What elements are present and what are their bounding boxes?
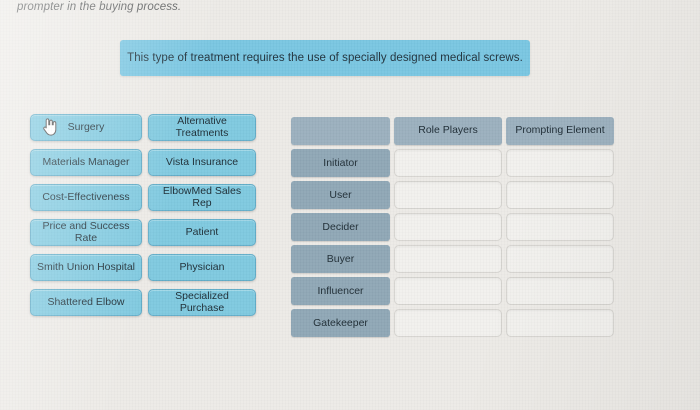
tile-label: Patient bbox=[186, 227, 219, 239]
drop-cell-user-role-player[interactable] bbox=[394, 181, 502, 209]
tile-smith-union-hospital[interactable]: Smith Union Hospital bbox=[30, 254, 142, 281]
drop-cell-decider-prompting-element[interactable] bbox=[506, 213, 614, 241]
tile-alternative-treatments[interactable]: Alternative Treatments bbox=[148, 114, 256, 141]
prompt-banner: This type of treatment requires the use … bbox=[120, 40, 530, 76]
drop-cell-initiator-prompting-element[interactable] bbox=[506, 149, 614, 177]
tile-shattered-elbow[interactable]: Shattered Elbow bbox=[30, 289, 142, 316]
matrix-row-label-initiator: Initiator bbox=[291, 149, 390, 177]
tile-label: Materials Manager bbox=[43, 157, 130, 169]
tile-label: Price and Success Rate bbox=[34, 221, 138, 244]
drop-cell-buyer-role-player[interactable] bbox=[394, 245, 502, 273]
prompt-banner-text: This type of treatment requires the use … bbox=[127, 52, 523, 64]
matrix-row-label-user: User bbox=[291, 181, 390, 209]
tile-elbowmed-sales-rep[interactable]: ElbowMed Sales Rep bbox=[148, 184, 256, 211]
tile-patient[interactable]: Patient bbox=[148, 219, 256, 246]
tile-label: Alternative Treatments bbox=[152, 116, 252, 139]
tile-specialized-purchase[interactable]: Specialized Purchase bbox=[148, 289, 256, 316]
matrix-row-label-influencer: Influencer bbox=[291, 277, 390, 305]
hand-pointer-icon bbox=[42, 117, 57, 136]
role-matrix-table: Role Players Prompting Element Initiator… bbox=[291, 117, 614, 337]
matrix-row-label-decider: Decider bbox=[291, 213, 390, 241]
tile-label: Smith Union Hospital bbox=[37, 262, 135, 274]
drop-cell-gatekeeper-prompting-element[interactable] bbox=[506, 309, 614, 337]
tile-label: Vista Insurance bbox=[166, 157, 238, 169]
draggable-tiles-column-left: Surgery Materials Manager Cost-Effective… bbox=[30, 114, 142, 316]
tile-price-and-success-rate[interactable]: Price and Success Rate bbox=[30, 219, 142, 246]
tile-cost-effectiveness[interactable]: Cost-Effectiveness bbox=[30, 184, 142, 211]
tile-surgery[interactable]: Surgery bbox=[30, 114, 142, 141]
matrix-header-role-players: Role Players bbox=[394, 117, 502, 145]
drop-cell-user-prompting-element[interactable] bbox=[506, 181, 614, 209]
tile-label: Shattered Elbow bbox=[47, 297, 124, 309]
matrix-row-label-buyer: Buyer bbox=[291, 245, 390, 273]
tile-label: Specialized Purchase bbox=[152, 291, 252, 314]
drop-cell-influencer-prompting-element[interactable] bbox=[506, 277, 614, 305]
truncated-instruction-text: prompter in the buying process. bbox=[17, 1, 181, 13]
tile-label: ElbowMed Sales Rep bbox=[152, 186, 252, 209]
matrix-header-blank bbox=[291, 117, 390, 145]
drop-cell-gatekeeper-role-player[interactable] bbox=[394, 309, 502, 337]
tile-materials-manager[interactable]: Materials Manager bbox=[30, 149, 142, 176]
drop-cell-initiator-role-player[interactable] bbox=[394, 149, 502, 177]
tile-label: Physician bbox=[180, 262, 225, 274]
tile-physician[interactable]: Physician bbox=[148, 254, 256, 281]
matrix-row-label-gatekeeper: Gatekeeper bbox=[291, 309, 390, 337]
drop-cell-decider-role-player[interactable] bbox=[394, 213, 502, 241]
matrix-header-prompting-element: Prompting Element bbox=[506, 117, 614, 145]
tile-label: Surgery bbox=[68, 122, 105, 134]
drop-cell-buyer-prompting-element[interactable] bbox=[506, 245, 614, 273]
drop-cell-influencer-role-player[interactable] bbox=[394, 277, 502, 305]
tile-vista-insurance[interactable]: Vista Insurance bbox=[148, 149, 256, 176]
draggable-tiles-column-right: Alternative Treatments Vista Insurance E… bbox=[148, 114, 256, 316]
tile-label: Cost-Effectiveness bbox=[42, 192, 129, 204]
